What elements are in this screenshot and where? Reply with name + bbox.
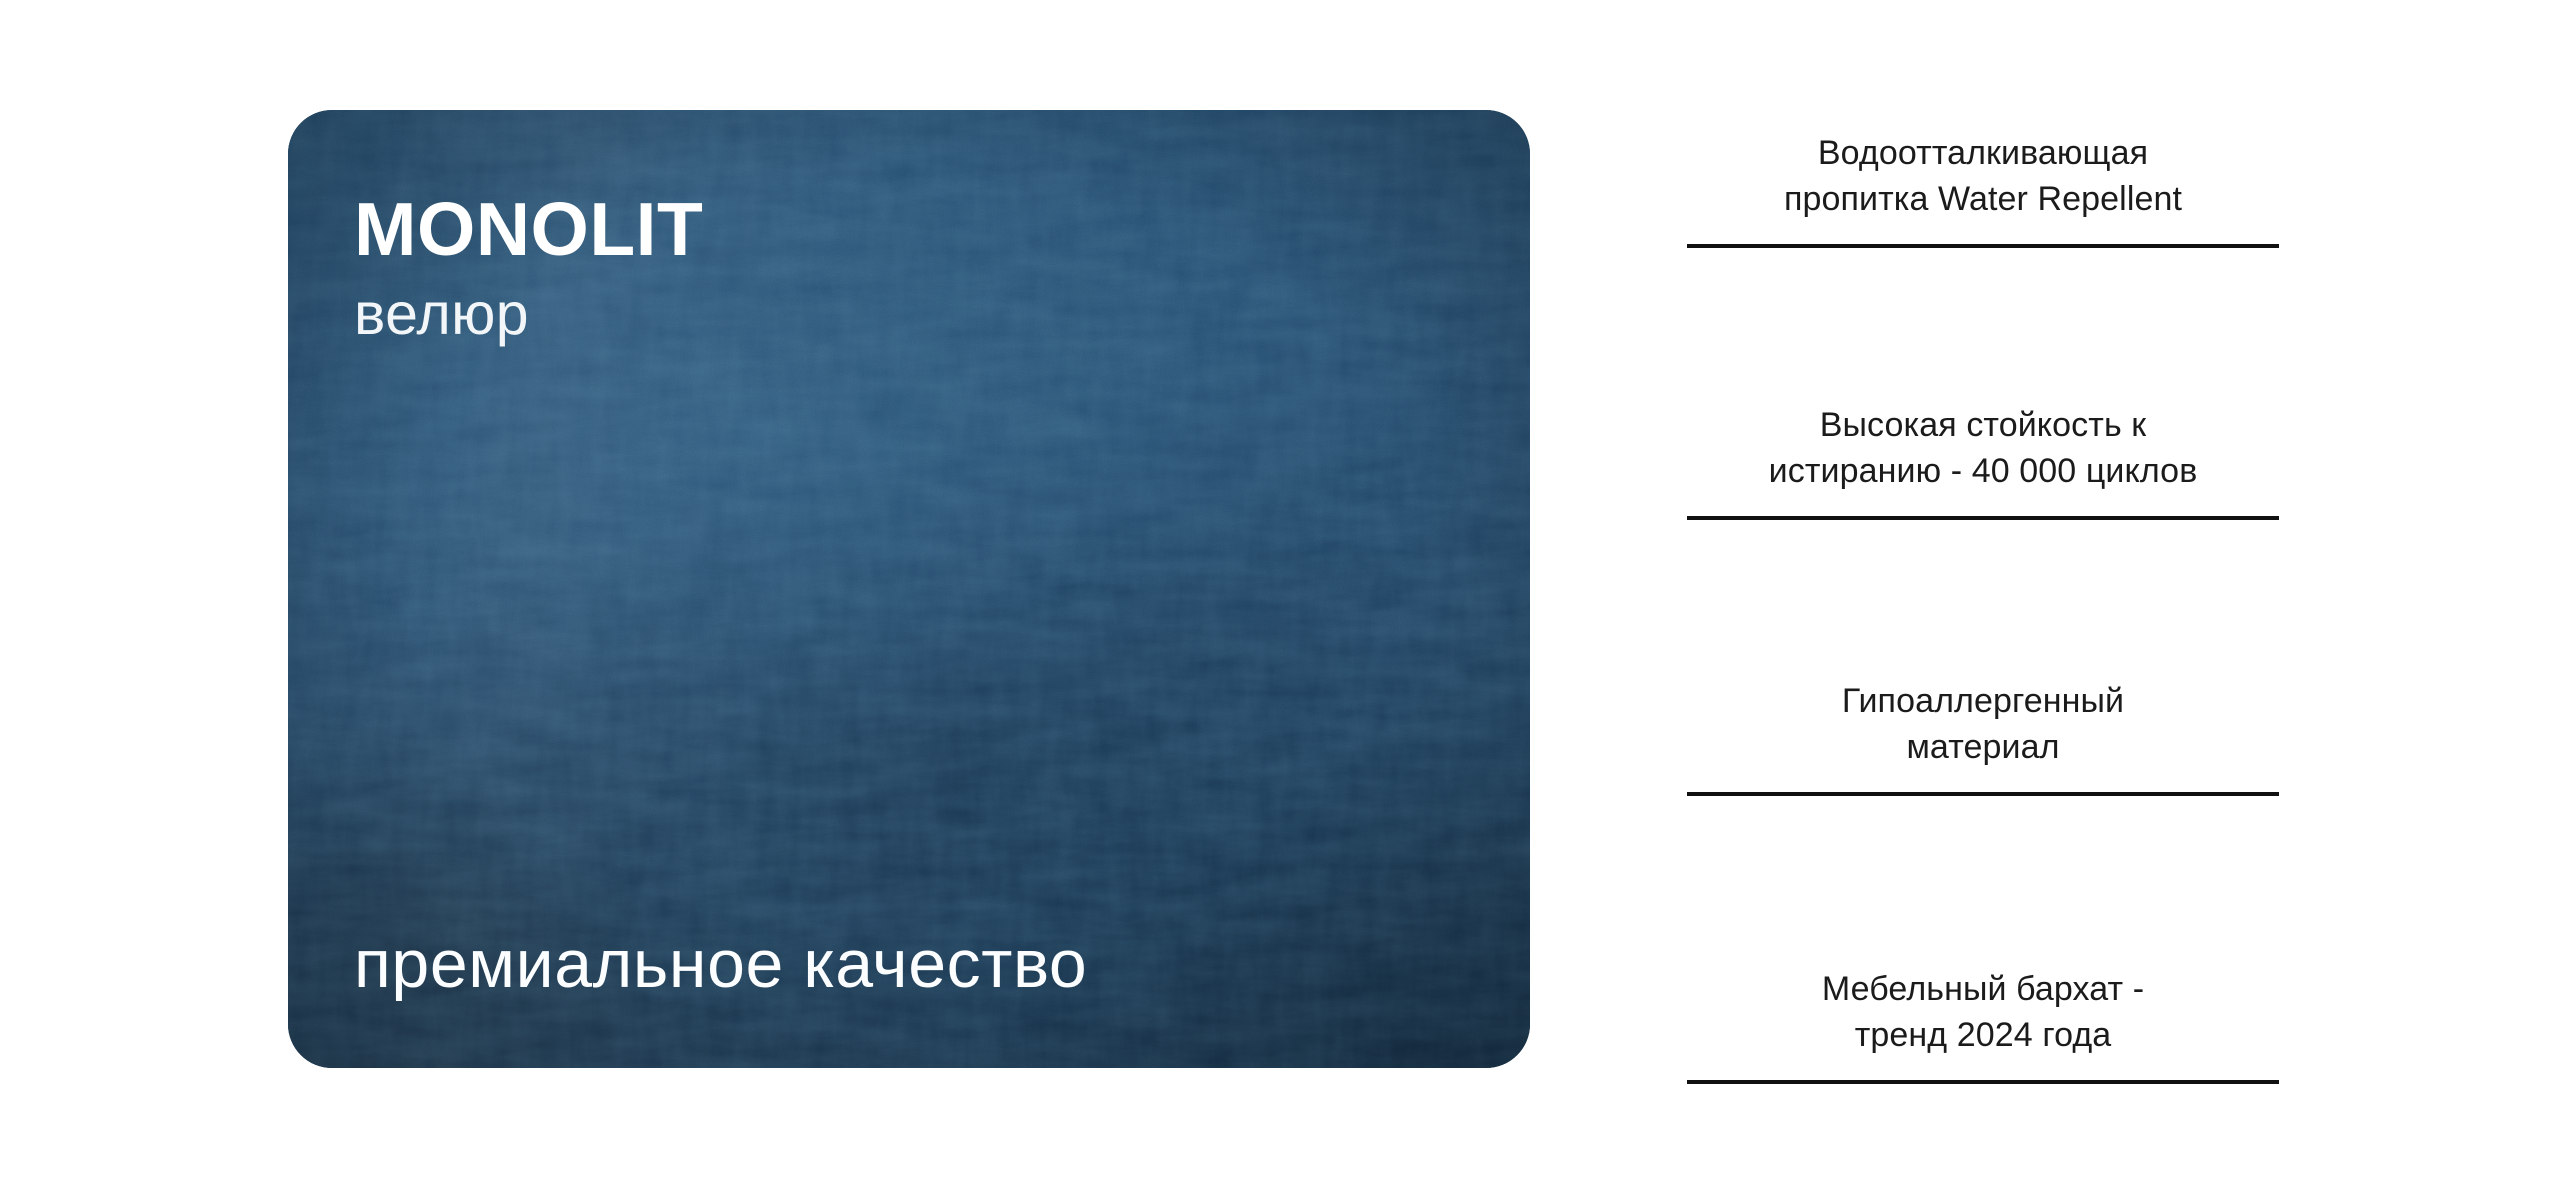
- page-canvas: MONOLIT велюр премиальное качество Водоо…: [0, 0, 2560, 1188]
- brand-name: MONOLIT: [354, 192, 703, 267]
- feature-item-trend-2024: Мебельный бархат - тренд 2024 года: [1687, 966, 2279, 1084]
- feature-text-hypoallergenic: Гипоаллергенный материал: [1687, 678, 2279, 770]
- feature-divider-4: [1687, 1080, 2279, 1084]
- feature-item-hypoallergenic: Гипоаллергенный материал: [1687, 678, 2279, 796]
- feature-text-abrasion-resistance: Высокая стойкость к истиранию - 40 000 ц…: [1687, 402, 2279, 494]
- feature-text-trend-2024: Мебельный бархат - тренд 2024 года: [1687, 966, 2279, 1058]
- card-tagline: премиальное качество: [354, 930, 1087, 998]
- card-heading-group: MONOLIT велюр: [354, 192, 703, 344]
- brand-subtitle: велюр: [354, 285, 703, 344]
- feature-text-water-repellent: Водоотталкивающая пропитка Water Repelle…: [1687, 130, 2279, 222]
- feature-divider-1: [1687, 244, 2279, 248]
- feature-item-water-repellent: Водоотталкивающая пропитка Water Repelle…: [1687, 130, 2279, 248]
- feature-divider-3: [1687, 792, 2279, 796]
- feature-item-abrasion-resistance: Высокая стойкость к истиранию - 40 000 ц…: [1687, 402, 2279, 520]
- fabric-swatch-card[interactable]: MONOLIT велюр премиальное качество: [288, 110, 1530, 1068]
- feature-divider-2: [1687, 516, 2279, 520]
